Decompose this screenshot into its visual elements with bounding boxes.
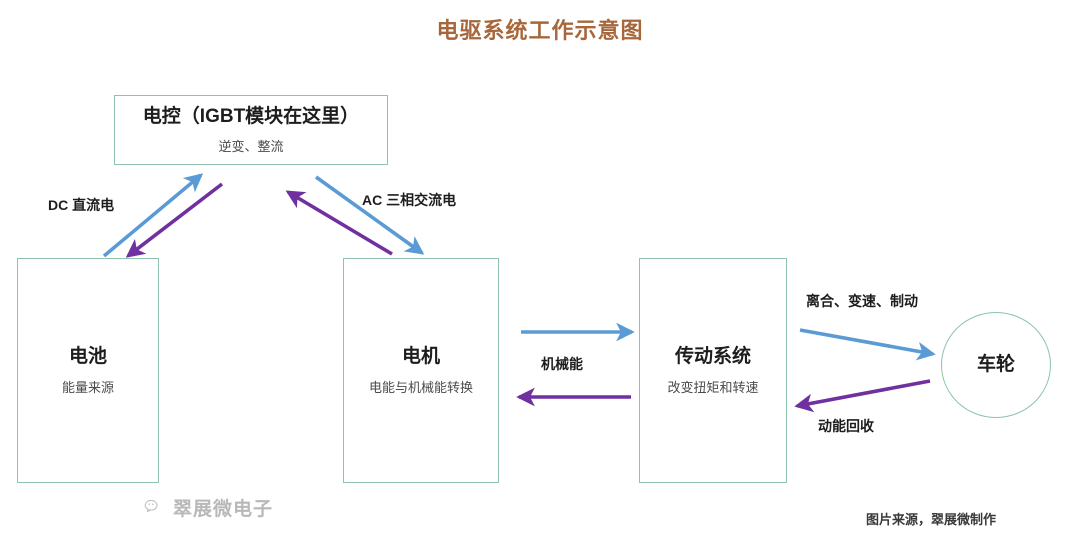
arrow-transmission-to-wheel [800,330,933,354]
node-controller-title: 电控（IGBT模块在这里） [143,105,359,130]
node-wheel[interactable]: 车轮 [941,312,1051,418]
node-motor-title: 电机 [402,345,440,370]
edge-label-regen: 动能回收 [818,416,874,436]
node-motor[interactable]: 电机 电能与机械能转换 [343,258,499,483]
node-controller-subtitle: 逆变、整流 [218,136,283,155]
wechat-logo-icon [144,498,163,517]
node-transmission-title: 传动系统 [675,345,751,370]
node-motor-subtitle: 电能与机械能转换 [369,377,473,396]
node-battery-title: 电池 [69,345,107,370]
brand-name: 翠展微电子 [173,494,273,521]
node-controller[interactable]: 电控（IGBT模块在这里） 逆变、整流 [114,95,388,165]
brand-watermark: 翠展微电子 [144,494,273,521]
image-credit: 图片来源，翠展微制作 [866,509,996,528]
edge-label-mechanical: 机械能 [541,354,583,374]
node-transmission[interactable]: 传动系统 改变扭矩和转速 [639,258,787,483]
arrow-wheel-to-transmission [797,381,930,406]
diagram-canvas: 电驱系统工作示意图 电控（IGBT模块在这里） 逆变、整流 [0,0,1080,548]
arrow-layer [0,0,1080,548]
node-battery[interactable]: 电池 能量来源 [17,258,159,483]
node-transmission-subtitle: 改变扭矩和转速 [667,377,758,396]
edge-label-dc: DC 直流电 [48,195,114,215]
node-battery-subtitle: 能量来源 [62,377,114,396]
edge-label-clutch: 离合、变速、制动 [806,291,918,311]
edge-label-ac: AC 三相交流电 [362,190,456,210]
node-wheel-title: 车轮 [977,353,1015,378]
arrow-battery-to-controller [104,175,201,256]
